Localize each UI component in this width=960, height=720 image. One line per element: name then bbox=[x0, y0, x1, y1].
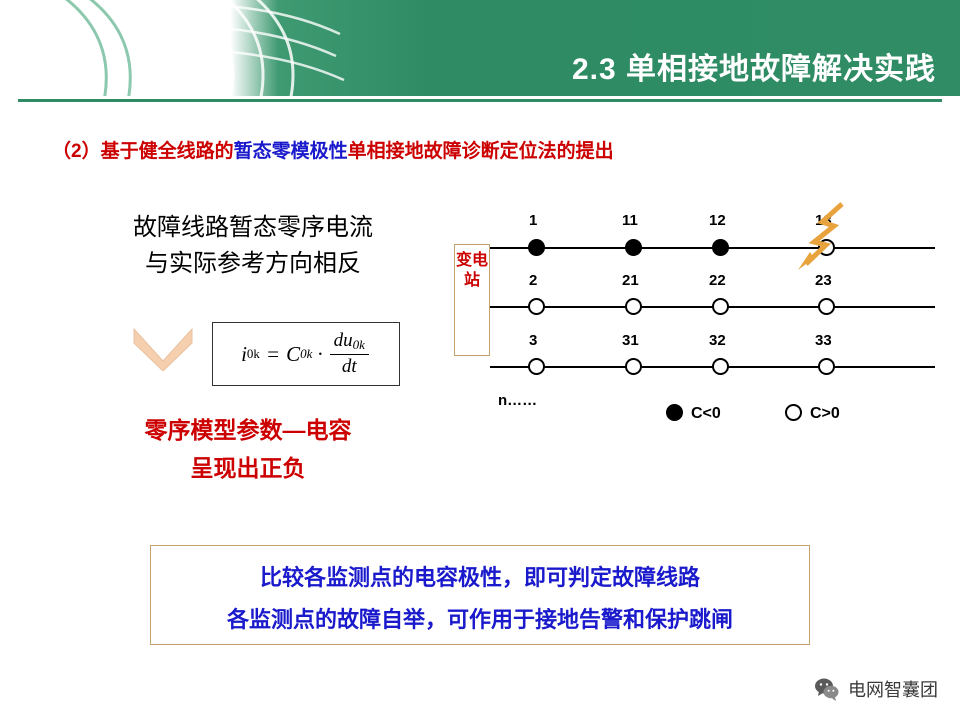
legend-label-positive: C>0 bbox=[810, 405, 840, 422]
legend-label-negative: C<0 bbox=[691, 405, 721, 422]
node-label-1-3: 12 bbox=[709, 212, 726, 229]
formula-num-sub: 0k bbox=[353, 337, 365, 352]
subtitle-part-3: 单相接地故障诊断定位法的提出 bbox=[348, 141, 614, 162]
legend-item-positive: C>0 bbox=[785, 404, 840, 423]
node-2-2 bbox=[625, 298, 642, 315]
formula-num-d: d bbox=[334, 330, 344, 351]
node-label-2-3: 22 bbox=[709, 272, 726, 289]
node-label-2-2: 21 bbox=[622, 272, 639, 289]
formula-expression: i0k = C0k · du0k dt bbox=[213, 323, 399, 385]
node-label-3-2: 31 bbox=[622, 332, 639, 349]
formula-rhs-var: C bbox=[286, 342, 300, 367]
node-1-3 bbox=[712, 239, 729, 256]
formula-equals: = bbox=[266, 342, 280, 367]
node-label-3-1: 3 bbox=[529, 332, 537, 349]
conclusion-line-2: 各监测点的故障自举，可作用于接地告警和保护跳闸 bbox=[151, 602, 809, 634]
footer-text: 电网智囊团 bbox=[848, 676, 938, 702]
formula-box: i0k = C0k · du0k dt bbox=[212, 322, 400, 386]
lightning-bolt-icon bbox=[792, 202, 862, 274]
node-label-3-3: 32 bbox=[709, 332, 726, 349]
node-label-3-4: 33 bbox=[815, 332, 832, 349]
formula-lhs-sub: 0k bbox=[247, 346, 260, 362]
node-label-1-1: 1 bbox=[529, 212, 537, 229]
legend-marker-filled bbox=[666, 404, 683, 421]
header-arc-decoration bbox=[0, 0, 400, 96]
left-description: 故障线路暂态零序电流 与实际参考方向相反 bbox=[88, 210, 418, 282]
more-feeders-label: n…… bbox=[498, 392, 537, 409]
formula-num-u: u bbox=[343, 330, 353, 351]
left-description-line-1: 故障线路暂态零序电流 bbox=[133, 215, 373, 241]
header-divider bbox=[18, 99, 942, 102]
red-conclusion: 零序模型参数—电容 呈现出正负 bbox=[78, 412, 418, 488]
conclusion-line-1: 比较各监测点的电容极性，即可判定故障线路 bbox=[151, 560, 809, 592]
left-description-line-2: 与实际参考方向相反 bbox=[88, 246, 418, 282]
node-2-4 bbox=[818, 298, 835, 315]
slide-header: 2.3 单相接地故障解决实践 bbox=[0, 0, 960, 104]
formula-den-d: d bbox=[342, 356, 352, 377]
node-2-1 bbox=[528, 298, 545, 315]
node-3-1 bbox=[528, 358, 545, 375]
formula-fraction-numerator: du0k bbox=[330, 330, 369, 354]
node-3-3 bbox=[712, 358, 729, 375]
formula-den-t: t bbox=[351, 356, 356, 377]
node-label-1-2: 11 bbox=[622, 212, 638, 229]
node-2-3 bbox=[712, 298, 729, 315]
legend-item-negative: C<0 bbox=[666, 404, 721, 423]
node-label-2-1: 2 bbox=[529, 272, 537, 289]
node-3-2 bbox=[625, 358, 642, 375]
down-arrow-icon bbox=[132, 327, 194, 371]
substation-box: 变电站 bbox=[454, 244, 490, 356]
conclusion-box: 比较各监测点的电容极性，即可判定故障线路 各监测点的故障自举，可作用于接地告警和… bbox=[150, 545, 810, 645]
wechat-icon bbox=[814, 676, 840, 702]
subtitle-part-1: （2）基于健全线路的 bbox=[52, 141, 234, 162]
network-diagram: 变电站 1 11 12 13 2 21 22 23 3 31 32 33 n……… bbox=[440, 196, 940, 446]
subtitle-part-2: 暂态零模极性 bbox=[234, 141, 348, 162]
footer-watermark: 电网智囊团 bbox=[814, 676, 938, 702]
legend-marker-open bbox=[785, 404, 802, 421]
red-conclusion-line-1: 零序模型参数—电容 bbox=[78, 412, 418, 450]
node-1-1 bbox=[528, 239, 545, 256]
node-label-2-4: 23 bbox=[815, 272, 832, 289]
section-subtitle: （2）基于健全线路的暂态零模极性单相接地故障诊断定位法的提出 bbox=[52, 136, 614, 163]
formula-fraction: du0k dt bbox=[330, 330, 369, 378]
page-title: 2.3 单相接地故障解决实践 bbox=[572, 44, 936, 88]
formula-fraction-denominator: dt bbox=[330, 354, 369, 378]
formula-dot: · bbox=[317, 342, 322, 367]
node-1-2 bbox=[625, 239, 642, 256]
red-conclusion-line-2: 呈现出正负 bbox=[78, 450, 418, 488]
node-3-4 bbox=[818, 358, 835, 375]
formula-rhs-sub: 0k bbox=[300, 346, 312, 362]
